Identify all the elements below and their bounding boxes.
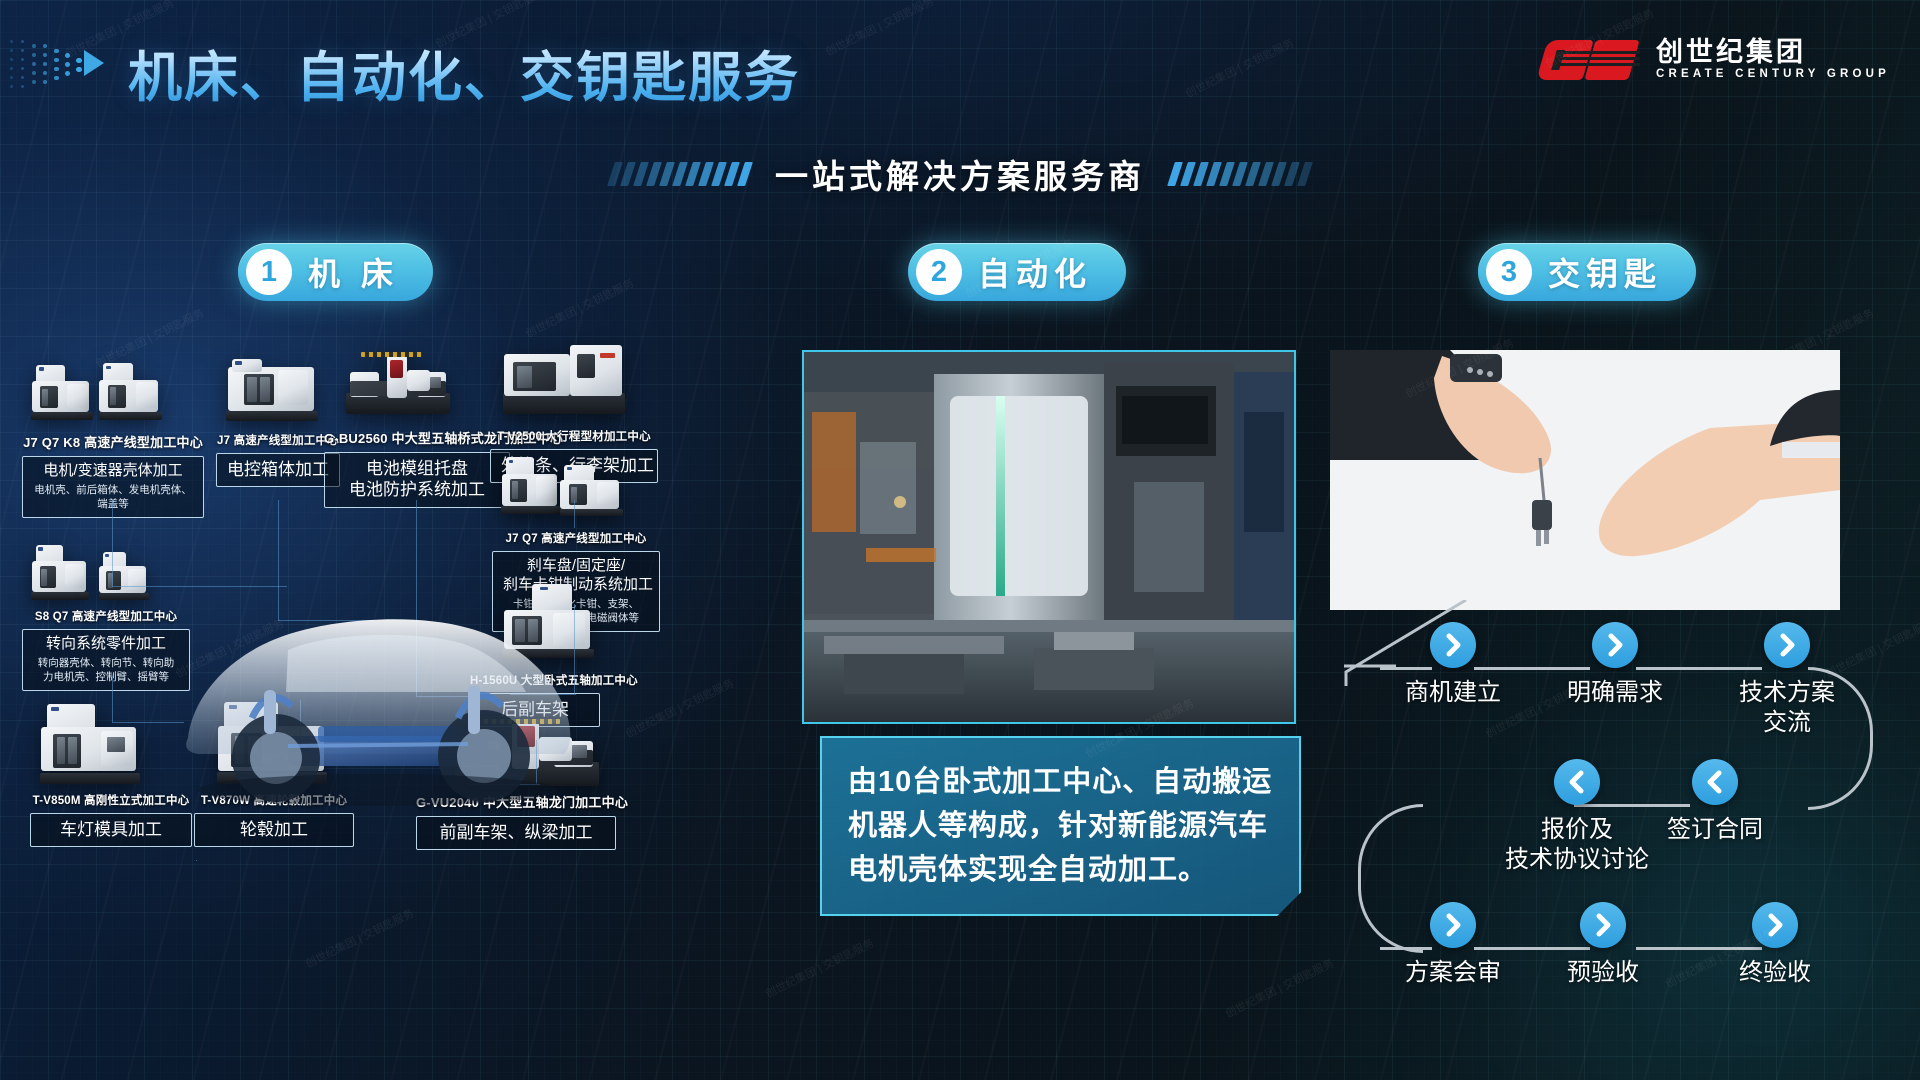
- machine-process-box: 电控箱体加工: [216, 453, 340, 487]
- section-label-2: 自动化: [978, 249, 1092, 295]
- watermark: 创世纪集团 | 交钥匙服务: [523, 275, 637, 342]
- watermark: 创世纪集团 | 交钥匙服务: [1823, 615, 1920, 682]
- chevron-right-icon: [1430, 622, 1476, 668]
- flow-step[interactable]: 技术方案交流: [1739, 622, 1835, 738]
- watermark: 创世纪集团 | 交钥匙服务: [763, 935, 877, 1002]
- machine-label: J7 高速产线型加工中心电控箱体加工: [216, 432, 340, 487]
- logo-english-name: CREATE CENTURY GROUP: [1656, 69, 1890, 81]
- flow-step[interactable]: 预验收: [1567, 902, 1639, 988]
- flow-step[interactable]: 报价及技术协议讨论: [1505, 759, 1649, 875]
- chevron-right-icon: [1430, 902, 1476, 948]
- machine-image: [344, 348, 452, 420]
- machine-model-name: S8 Q7 高速产线型加工中心: [22, 608, 190, 624]
- flow-step[interactable]: 方案会审: [1405, 902, 1501, 988]
- connector-line: [196, 860, 197, 861]
- flow-step-label: 技术方案交流: [1739, 678, 1835, 738]
- slide-root: 机床、自动化、交钥匙服务 创世纪集团 CREATE CENTURY GROUP …: [0, 0, 1920, 1080]
- flow-step[interactable]: 明确需求: [1567, 622, 1663, 708]
- section-pill-turnkey[interactable]: 3 交钥匙: [1478, 243, 1696, 301]
- cc-mark-icon: [1538, 38, 1642, 82]
- machine-process-box: 电池模组托盘电池防护系统加工: [324, 452, 510, 508]
- subtitle-bar: 一站式解决方案服务商: [0, 150, 1920, 198]
- machine-image: [28, 360, 96, 422]
- machine-image: [36, 702, 144, 786]
- machine-image: [498, 452, 564, 516]
- automation-photo: [802, 350, 1296, 724]
- machine-label: G-BU2560 中大型五轴桥式龙门加工中心电池模组托盘电池防护系统加工: [324, 428, 510, 508]
- watermark: 创世纪集团 | 交钥匙服务: [1223, 955, 1337, 1022]
- chevron-right-icon: [1752, 902, 1798, 948]
- chevron-right-icon: [1592, 622, 1638, 668]
- page-header: 机床、自动化、交钥匙服务 创世纪集团 CREATE CENTURY GROUP: [0, 0, 1920, 118]
- slash-decoration-right: [1171, 162, 1309, 186]
- flow-step-label: 商机建立: [1405, 678, 1501, 708]
- flow-step[interactable]: 签订合同: [1667, 759, 1763, 845]
- section-number-1: 1: [246, 249, 292, 295]
- flow-step-label: 明确需求: [1567, 678, 1663, 708]
- process-text: 电控箱体加工: [227, 459, 329, 480]
- section-number-2: 2: [916, 249, 962, 295]
- machine-process-box: 电机/变速器壳体加工电机壳、前后箱体、发电机壳体、端盖等: [22, 456, 204, 518]
- section-pill-machine-tools[interactable]: 1 机 床: [238, 243, 433, 301]
- machine-model-name: J7 高速产线型加工中心: [216, 432, 340, 448]
- machine-label: J7 Q7 K8 高速产线型加工中心电机/变速器壳体加工电机壳、前后箱体、发电机…: [22, 432, 204, 518]
- machine-label: S8 Q7 高速产线型加工中心转向系统零件加工转向器壳体、转向节、转向助力电机壳…: [22, 608, 190, 691]
- machine-image: [95, 358, 165, 422]
- chevron-dots-icon: [10, 36, 102, 88]
- flow-step-label: 报价及技术协议讨论: [1505, 815, 1649, 875]
- machine-model-name: G-BU2560 中大型五轴桥式龙门加工中心: [324, 428, 510, 447]
- chevron-left-icon: [1692, 759, 1738, 805]
- flow-step-label: 终验收: [1739, 958, 1811, 988]
- section-pill-automation[interactable]: 2 自动化: [908, 243, 1126, 301]
- slash-decoration-left: [611, 162, 749, 186]
- flow-step[interactable]: 商机建立: [1405, 622, 1501, 708]
- process-text: 电机/变速器壳体加工: [33, 462, 193, 481]
- section-label-3: 交钥匙: [1548, 249, 1662, 295]
- process-text: 车灯模具加工: [41, 819, 181, 840]
- process-text: 电池模组托盘: [335, 458, 499, 479]
- process-detail-text: 电机壳、前后箱体、发电机壳体、端盖等: [33, 483, 193, 511]
- brand-logo: 创世纪集团 CREATE CENTURY GROUP: [1538, 38, 1890, 82]
- process-text: 转向系统零件加工: [33, 635, 179, 654]
- process-detail-text: 转向器壳体、转向节、转向助力电机壳、控制臂、摇臂等: [33, 656, 179, 684]
- page-title: 机床、自动化、交钥匙服务: [128, 33, 800, 112]
- machine-image: [96, 548, 152, 602]
- section-label-1: 机 床: [308, 249, 399, 295]
- turnkey-photo: [1330, 350, 1840, 610]
- chevron-right-icon: [1580, 902, 1626, 948]
- machine-image: [28, 540, 92, 602]
- page-subtitle: 一站式解决方案服务商: [775, 150, 1145, 198]
- flow-step-label: 签订合同: [1667, 815, 1763, 845]
- machine-image: [500, 340, 628, 420]
- logo-chinese-name: 创世纪集团: [1656, 39, 1890, 66]
- machine-image: [222, 352, 322, 422]
- watermark: 创世纪集团 | 交钥匙服务: [303, 905, 417, 972]
- machine-model-name: J7 Q7 K8 高速产线型加工中心: [22, 432, 204, 451]
- section-number-3: 3: [1486, 249, 1532, 295]
- process-text-line2: 电池防护系统加工: [335, 479, 499, 500]
- machine-image: [556, 460, 626, 518]
- machine-model-name: T-V2500 大行程型材加工中心: [490, 428, 658, 444]
- chevron-right-icon: [1764, 622, 1810, 668]
- chevron-left-icon: [1554, 759, 1600, 805]
- vehicle-cutaway-image: [168, 540, 588, 840]
- flow-step-label: 方案会审: [1405, 958, 1501, 988]
- flow-step[interactable]: 终验收: [1739, 902, 1811, 988]
- machine-process-box: 转向系统零件加工转向器壳体、转向节、转向助力电机壳、控制臂、摇臂等: [22, 629, 190, 691]
- flow-step-label: 预验收: [1567, 958, 1639, 988]
- automation-caption: 由10台卧式加工中心、自动搬运机器人等构成，针对新能源汽车电机壳体实现全自动加工…: [820, 736, 1301, 916]
- watermark: 创世纪集团 | 交钥匙服务: [623, 675, 737, 742]
